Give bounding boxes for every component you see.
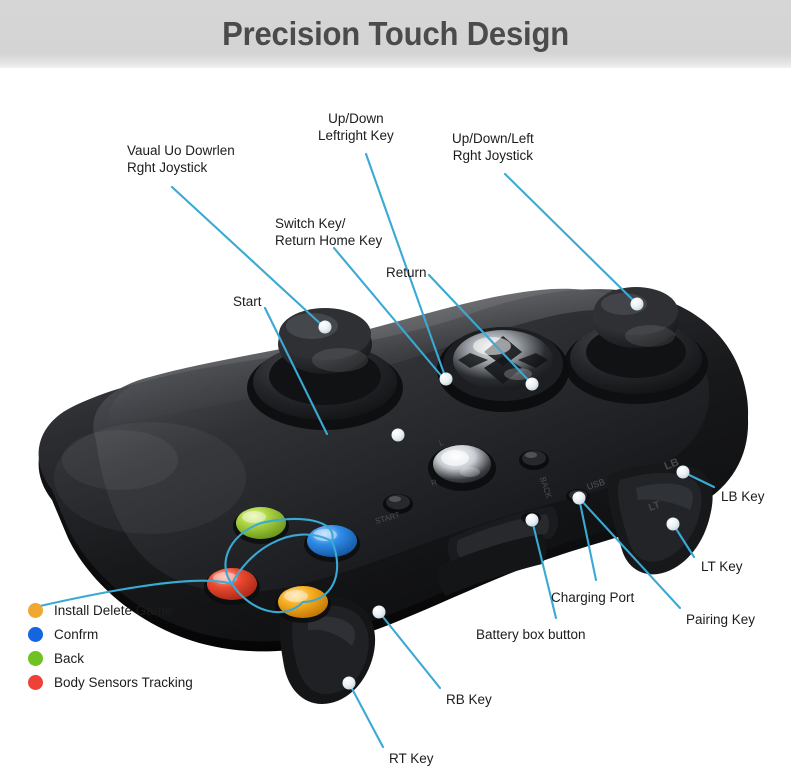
callout-up-down-left-right-joystick: Up/Down/Left Rght Joystick xyxy=(452,130,534,164)
legend-label-body-sensors-tracking: Body Sensors Tracking xyxy=(54,675,193,690)
callout-lb-key: LB Key xyxy=(721,488,765,505)
leader-charging-port xyxy=(579,498,596,580)
callout-return: Return xyxy=(386,264,427,281)
legend-item-install-delete-game: Install Delete Game xyxy=(28,598,193,622)
legend-label-back: Back xyxy=(54,651,84,666)
marker-lt-key xyxy=(667,518,680,531)
leader-start xyxy=(265,308,327,434)
legend-label-install-delete-game: Install Delete Game xyxy=(54,603,173,618)
legend: Install Delete Game Confrm Back Body Sen… xyxy=(28,598,193,694)
callout-battery-box-button: Battery box button xyxy=(476,626,586,643)
leader-rt-key xyxy=(349,683,383,747)
marker-left-stick xyxy=(319,321,332,334)
marker-rb-key xyxy=(373,606,386,619)
illustration-area: LB LT xyxy=(0,68,791,768)
product-infographic: Precision Touch Design xyxy=(0,0,791,768)
marker-guide-button xyxy=(392,429,405,442)
page-title: Precision Touch Design xyxy=(222,15,569,53)
legend-dot-green xyxy=(28,651,43,666)
marker-charging-port xyxy=(573,492,586,505)
leader-legend-arc xyxy=(232,534,332,584)
legend-item-body-sensors-tracking: Body Sensors Tracking xyxy=(28,670,193,694)
leader-legend-arc5 xyxy=(303,541,337,602)
leader-rb-key xyxy=(379,612,440,688)
callout-up-down-leftright-key: Up/Down Leftright Key xyxy=(318,110,394,144)
leader-legend-arc2 xyxy=(232,584,303,612)
callout-switch-key-return-home-key: Switch Key/ Return Home Key xyxy=(275,215,382,249)
legend-dot-orange xyxy=(28,603,43,618)
leader-return xyxy=(429,275,532,384)
legend-item-confirm: Confrm xyxy=(28,622,193,646)
marker-right-stick xyxy=(631,298,644,311)
header-banner: Precision Touch Design xyxy=(0,0,791,68)
marker-start-button xyxy=(526,378,539,391)
marker-rt-key xyxy=(343,677,356,690)
legend-label-confirm: Confrm xyxy=(54,627,98,642)
callout-pairing-key: Pairing Key xyxy=(686,611,755,628)
callout-charging-port: Charging Port xyxy=(551,589,634,606)
callout-visual-uo-dowrlen: Vaual Uo Dowrlen Rght Joystick xyxy=(127,142,235,176)
leader-up-down-left-right-joystick xyxy=(505,174,637,304)
callout-rb-key: RB Key xyxy=(446,691,492,708)
marker-lb-key xyxy=(677,466,690,479)
marker-dpad xyxy=(440,373,453,386)
legend-item-back: Back xyxy=(28,646,193,670)
legend-dot-blue xyxy=(28,627,43,642)
callout-start: Start xyxy=(233,293,262,310)
marker-battery-button xyxy=(526,514,539,527)
callout-lt-key: LT Key xyxy=(701,558,743,575)
legend-dot-red xyxy=(28,675,43,690)
callout-rt-key: RT Key xyxy=(389,750,434,767)
